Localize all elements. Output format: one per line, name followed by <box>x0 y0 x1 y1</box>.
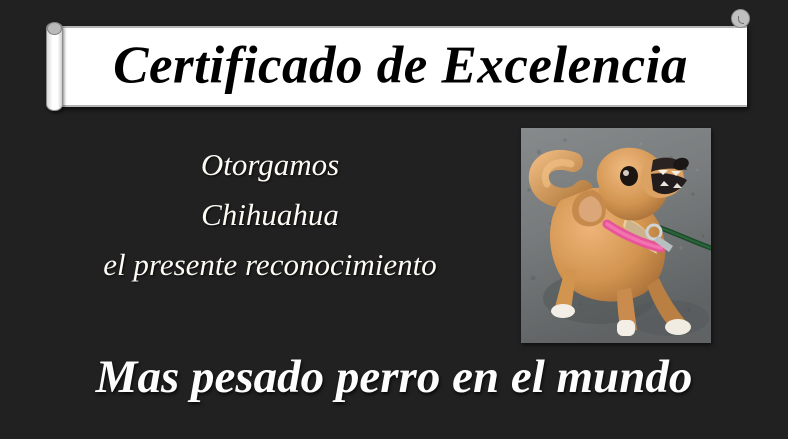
scroll-roll-left-cap-icon <box>47 22 62 35</box>
certificate-title: Certificado de Excelencia <box>54 39 747 92</box>
body-text-block: Otorgamos Chihuahua el presente reconoci… <box>30 140 510 290</box>
body-line-1: Otorgamos <box>30 140 510 190</box>
award-title: Mas pesado perro en el mundo <box>0 348 788 406</box>
body-line-3: el presente reconocimiento <box>30 240 510 290</box>
scroll-curl-right-mark-icon <box>738 16 744 24</box>
certificate-canvas: Certificado de Excelencia Otorgamos Chih… <box>0 0 788 439</box>
chihuahua-photo-graphic <box>521 128 711 343</box>
chihuahua-photo <box>521 128 711 343</box>
scroll-roll-left-icon <box>46 22 63 111</box>
title-banner: Certificado de Excelencia <box>54 26 747 107</box>
body-line-2-recipient: Chihuahua <box>30 190 510 240</box>
